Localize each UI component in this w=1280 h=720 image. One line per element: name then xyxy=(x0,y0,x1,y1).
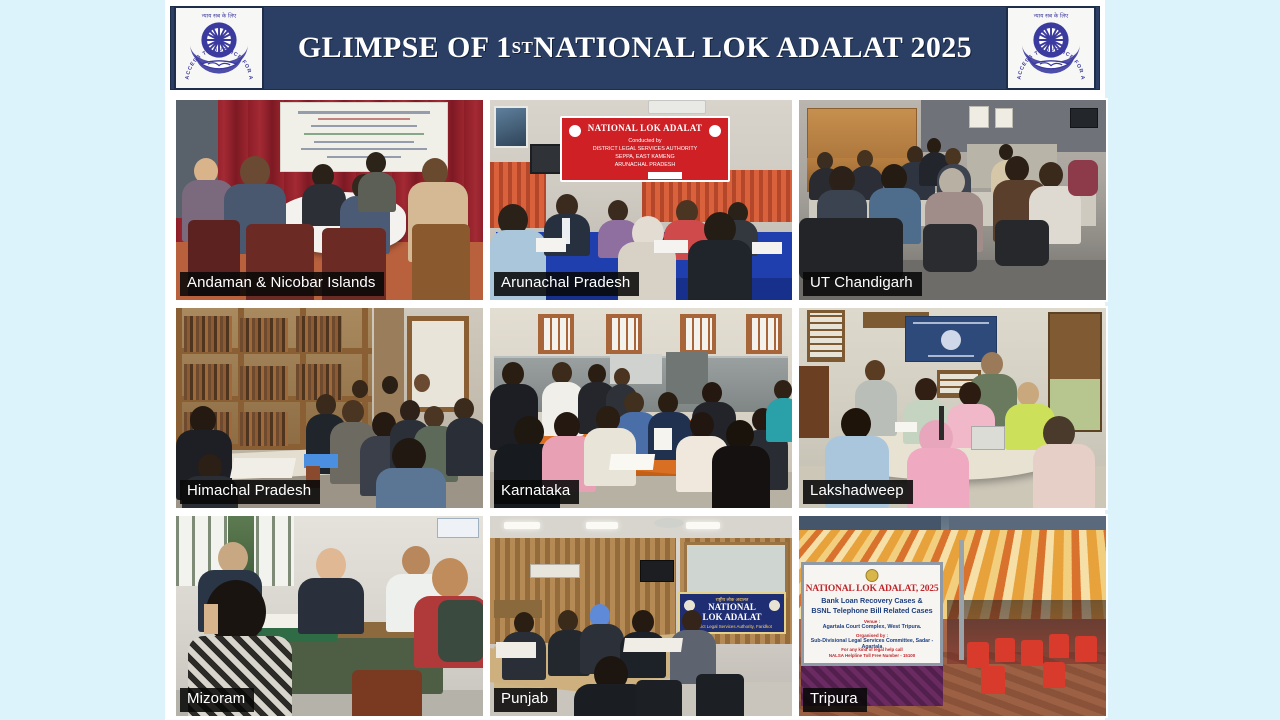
photo-himachal xyxy=(176,308,483,508)
sign-line: BSNL Telephone Bill Related Cases xyxy=(804,606,940,616)
photo-grid: Andaman & Nicobar Islands NATIONAL LOK A… xyxy=(174,98,1106,718)
page-root: न्याय सब के लिए xyxy=(0,0,1280,720)
sign-line: Bank Loan Recovery Cases & xyxy=(804,596,940,606)
nalsa-logo-right: न्याय सब के लिए xyxy=(1006,6,1096,90)
photo-cell-ut-chandigarh[interactable]: UT Chandigarh xyxy=(797,98,1108,302)
photo-cell-mizoram[interactable]: Mizoram xyxy=(174,514,485,718)
photo-punjab: राष्ट्रीय लोक अदालत NATIONAL LOK ADALAT … xyxy=(490,516,792,716)
photo-cell-karnataka[interactable]: Karnataka xyxy=(488,306,794,510)
sign-line: Agartala Court Complex, West Tripura. xyxy=(804,624,940,630)
photo-cell-tripura[interactable]: NATIONAL LOK ADALAT, 2025 Bank Loan Reco… xyxy=(797,514,1108,718)
photo-caption: Arunachal Pradesh xyxy=(494,272,639,296)
photo-caption: Punjab xyxy=(494,688,557,712)
photo-caption: Andaman & Nicobar Islands xyxy=(180,272,384,296)
photo-caption: UT Chandigarh xyxy=(803,272,922,296)
photo-caption: Karnataka xyxy=(494,480,579,504)
photo-tripura: NATIONAL LOK ADALAT, 2025 Bank Loan Reco… xyxy=(799,516,1106,716)
photo-caption: Himachal Pradesh xyxy=(180,480,320,504)
photo-andaman xyxy=(176,100,483,300)
photo-caption: Mizoram xyxy=(180,688,254,712)
photo-lakshadweep xyxy=(799,308,1106,508)
banner-header: न्याय सब के लिए xyxy=(170,4,1100,94)
svg-text:न्याय सब के लिए: न्याय सब के लिए xyxy=(1034,12,1069,20)
photo-cell-andaman[interactable]: Andaman & Nicobar Islands xyxy=(174,98,485,302)
tripura-signboard: NATIONAL LOK ADALAT, 2025 Bank Loan Reco… xyxy=(801,562,943,666)
banner-line: DISTRICT LEGAL SERVICES AUTHORITY xyxy=(562,145,728,153)
article-image-sheet: न्याय सब के लिए xyxy=(165,0,1105,720)
photo-cell-himachal[interactable]: Himachal Pradesh xyxy=(174,306,485,510)
banner-line: SEPPA, EAST KAMENG xyxy=(562,153,728,161)
photo-caption: Lakshadweep xyxy=(803,480,913,504)
banner-title: NATIONAL LOK ADALAT xyxy=(562,123,728,133)
banner-line: Conducted by xyxy=(562,137,728,145)
photo-arunachal: NATIONAL LOK ADALAT Conducted by DISTRIC… xyxy=(490,100,792,300)
svg-text:न्याय सब के लिए: न्याय सब के लिए xyxy=(202,12,237,20)
header-title-main: GLIMPSE OF 1 xyxy=(298,31,512,65)
header-title-rest: NATIONAL LOK ADALAT 2025 xyxy=(533,31,972,65)
nalsa-emblem-icon: न्याय सब के लिए xyxy=(1010,8,1092,88)
photo-ut-chandigarh xyxy=(799,100,1106,300)
banner-line: ARUNACHAL PRADESH xyxy=(562,161,728,169)
photo-cell-lakshadweep[interactable]: Lakshadweep xyxy=(797,306,1108,510)
sign-line: For any kind of legal help call xyxy=(804,647,940,652)
photo-mizoram xyxy=(176,516,483,716)
photo-cell-punjab[interactable]: राष्ट्रीय लोक अदालत NATIONAL LOK ADALAT … xyxy=(488,514,794,718)
photo-karnataka xyxy=(490,308,792,508)
header-title: GLIMPSE OF 1ST NATIONAL LOK ADALAT 2025 xyxy=(270,6,1000,90)
photo-cell-arunachal[interactable]: NATIONAL LOK ADALAT Conducted by DISTRIC… xyxy=(488,98,794,302)
nalsa-emblem-icon: न्याय सब के लिए xyxy=(178,8,260,88)
sign-line: NALSA Helpline Toll Free Number - 15100 xyxy=(804,653,940,658)
nalsa-logo-left: न्याय सब के लिए xyxy=(174,6,264,90)
photo-caption: Tripura xyxy=(803,688,867,712)
sign-line: NATIONAL LOK ADALAT, 2025 xyxy=(804,584,940,594)
